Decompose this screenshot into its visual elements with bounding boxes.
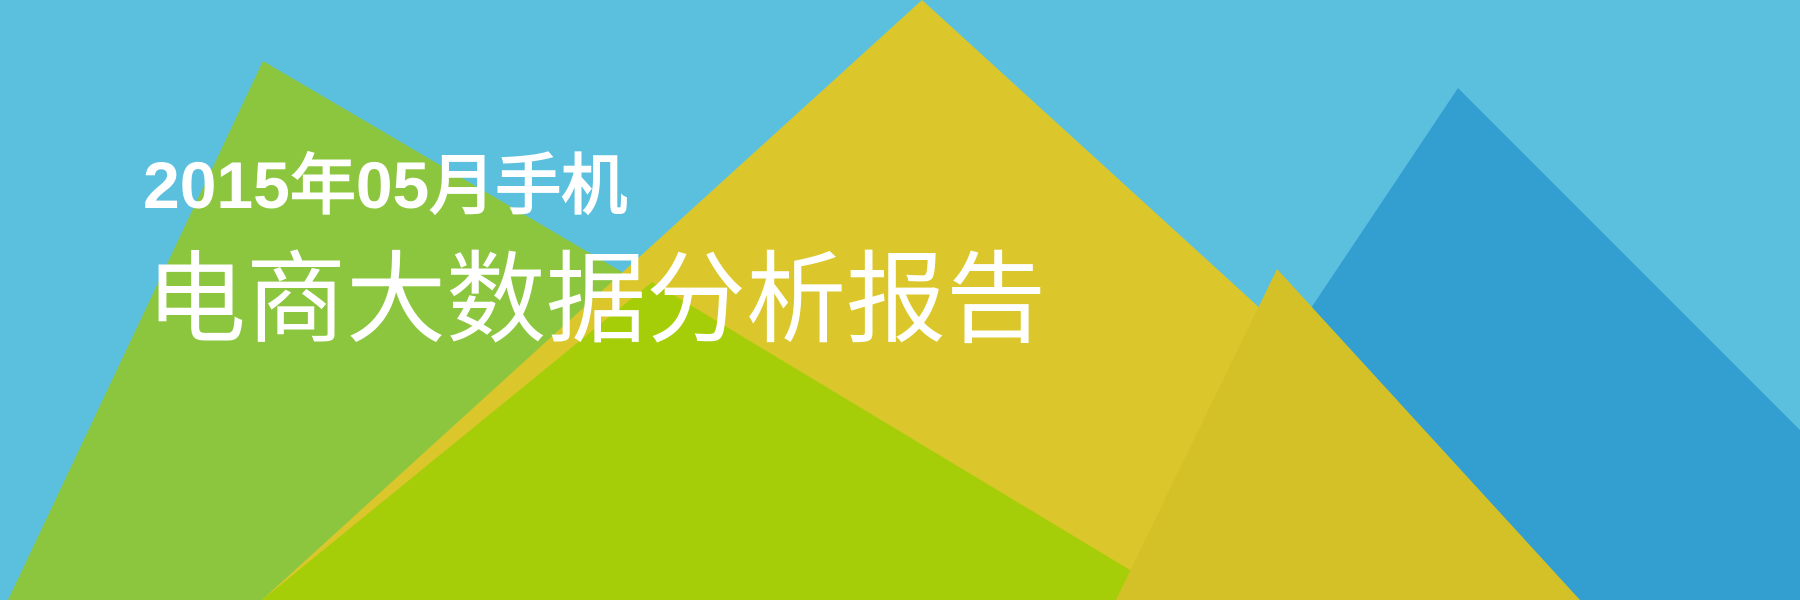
title-slide: 2015年05月手机 电商大数据分析报告 (0, 0, 1800, 600)
decorative-background (0, 0, 1800, 600)
